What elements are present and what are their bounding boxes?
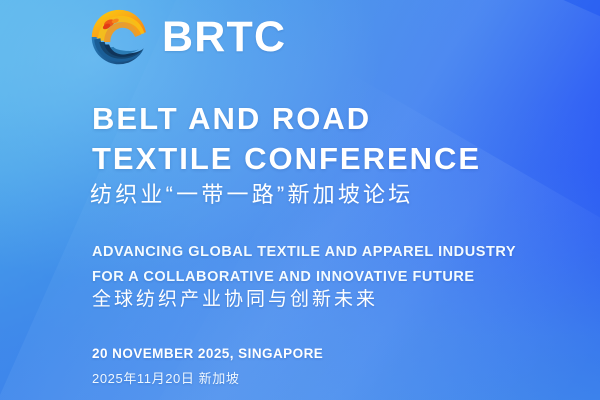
poster-content: BRTC BELT AND ROAD TEXTILE CONFERENCE 纺织… bbox=[0, 0, 600, 400]
page-title-line-1: BELT AND ROAD bbox=[92, 99, 481, 139]
page-title: BELT AND ROAD TEXTILE CONFERENCE bbox=[92, 99, 481, 178]
tagline-chinese: 全球纺织产业协同与创新未来 bbox=[92, 289, 378, 312]
page-title-line-2: TEXTILE CONFERENCE bbox=[92, 139, 481, 179]
conference-poster: BRTC BELT AND ROAD TEXTILE CONFERENCE 纺织… bbox=[0, 0, 600, 400]
tagline-line-1: ADVANCING GLOBAL TEXTILE AND APPAREL IND… bbox=[92, 240, 516, 265]
event-date-location-chinese: 2025年11月20日 新加坡 bbox=[92, 371, 323, 387]
brtc-globe-swirl-logo-icon bbox=[88, 6, 150, 68]
brand-wordmark: BRTC bbox=[162, 16, 286, 59]
page-title-chinese: 纺织业“一带一路”新加坡论坛 bbox=[90, 182, 413, 208]
brand-lockup: BRTC bbox=[88, 6, 286, 68]
tagline: ADVANCING GLOBAL TEXTILE AND APPAREL IND… bbox=[92, 240, 516, 290]
event-date-location-english: 20 NOVEMBER 2025, SINGAPORE bbox=[92, 346, 323, 362]
tagline-line-2: FOR A COLLABORATIVE AND INNOVATIVE FUTUR… bbox=[92, 265, 516, 290]
event-details: 20 NOVEMBER 2025, SINGAPORE 2025年11月20日 … bbox=[92, 346, 323, 387]
